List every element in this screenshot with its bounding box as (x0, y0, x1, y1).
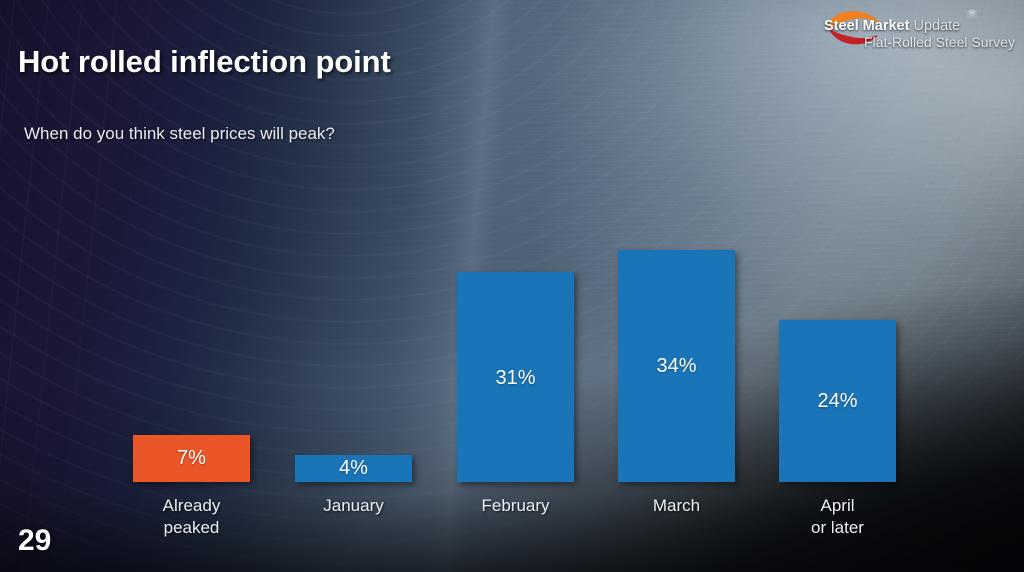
bar-category-line: March (596, 495, 757, 517)
bar-value-label: 4% (295, 457, 412, 480)
bar-category-line: April (757, 495, 918, 517)
bar-category-line: February (435, 495, 596, 517)
bar-value-label: 34% (618, 355, 735, 378)
bar-column: 34%March (618, 0, 735, 572)
bar-chart: 7%Alreadypeaked4%January31%February34%Ma… (0, 0, 1024, 572)
slide-canvas: Steel Market Update Flat-Rolled Steel Su… (0, 0, 1024, 572)
bar-column: 31%February (457, 0, 574, 572)
bar-category-line: January (273, 495, 434, 517)
bar-category-label: February (435, 495, 596, 517)
bar-column: 7%Alreadypeaked (133, 0, 250, 572)
bar-category-label: January (273, 495, 434, 517)
bar-column: 4%January (295, 0, 412, 572)
bar-category-line: peaked (111, 517, 272, 539)
bar-value-label: 7% (133, 447, 250, 470)
bar-category-line: Already (111, 495, 272, 517)
bar-value-label: 24% (779, 390, 896, 413)
bar-category-label: Alreadypeaked (111, 495, 272, 539)
bar-category-label: March (596, 495, 757, 517)
bar-value-label: 31% (457, 367, 574, 390)
bar-category-line: or later (757, 517, 918, 539)
bar-column: 24%Aprilor later (779, 0, 896, 572)
bar-category-label: Aprilor later (757, 495, 918, 539)
